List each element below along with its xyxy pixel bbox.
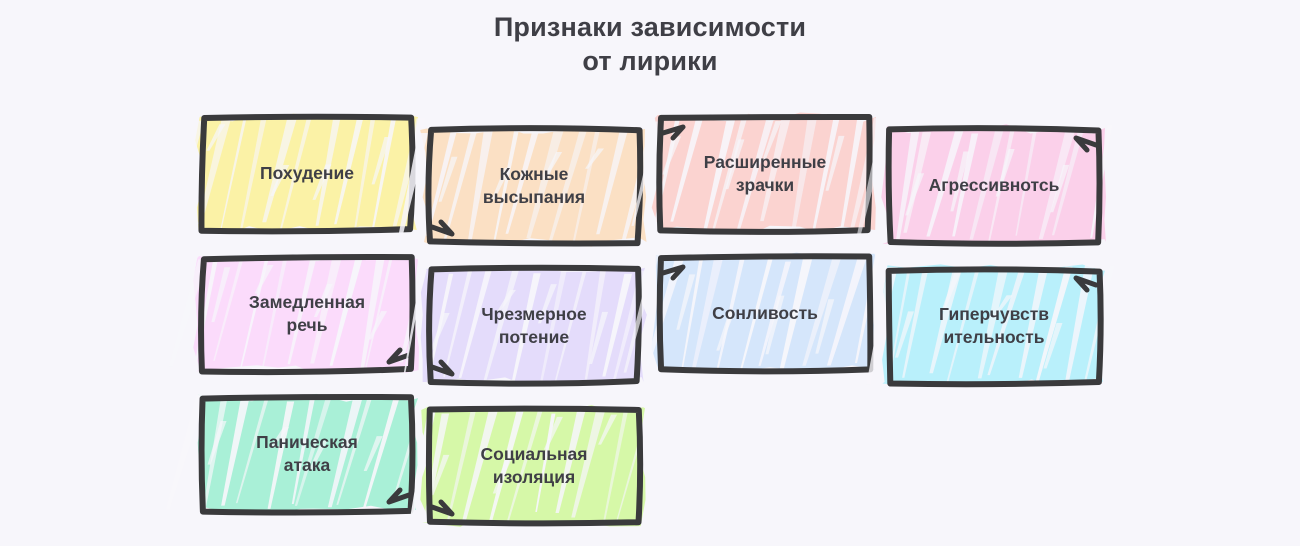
card-label: Сонливость <box>661 258 869 370</box>
card-label: Чрезмерное потение <box>430 270 638 382</box>
infographic-canvas: Признаки зависимости от лирики Похудение… <box>0 0 1300 546</box>
card-sonlivost[interactable]: Сонливость <box>661 258 869 370</box>
card-panicheskaya-ataka[interactable]: Паническая атака <box>203 398 411 510</box>
card-kozhnye-vysypaniya[interactable]: Кожные высыпания <box>430 130 638 242</box>
card-label: Агрессивнотсь <box>890 130 1098 242</box>
card-zamedlennaya-rech[interactable]: Замедленная речь <box>203 258 411 370</box>
card-chrezmernoe-potenie[interactable]: Чрезмерное потение <box>430 270 638 382</box>
card-label: Паническая атака <box>203 398 411 510</box>
page-title: Признаки зависимости от лирики <box>0 10 1300 78</box>
card-agressivnost[interactable]: Агрессивнотсь <box>890 130 1098 242</box>
card-pohudenie[interactable]: Похудение <box>203 118 411 230</box>
card-rasshirennye-zrachki[interactable]: Расширенные зрачки <box>661 118 869 230</box>
card-label: Кожные высыпания <box>430 130 638 242</box>
card-label: Похудение <box>203 118 411 230</box>
card-label: Расширенные зрачки <box>661 118 869 230</box>
card-label: Социальная изоляция <box>430 410 638 522</box>
card-label: Замедленная речь <box>203 258 411 370</box>
card-giperchuvstvitelnost[interactable]: Гиперчувств ительность <box>890 270 1098 382</box>
card-label: Гиперчувств ительность <box>890 270 1098 382</box>
card-socialnaya-izolyaciya[interactable]: Социальная изоляция <box>430 410 638 522</box>
